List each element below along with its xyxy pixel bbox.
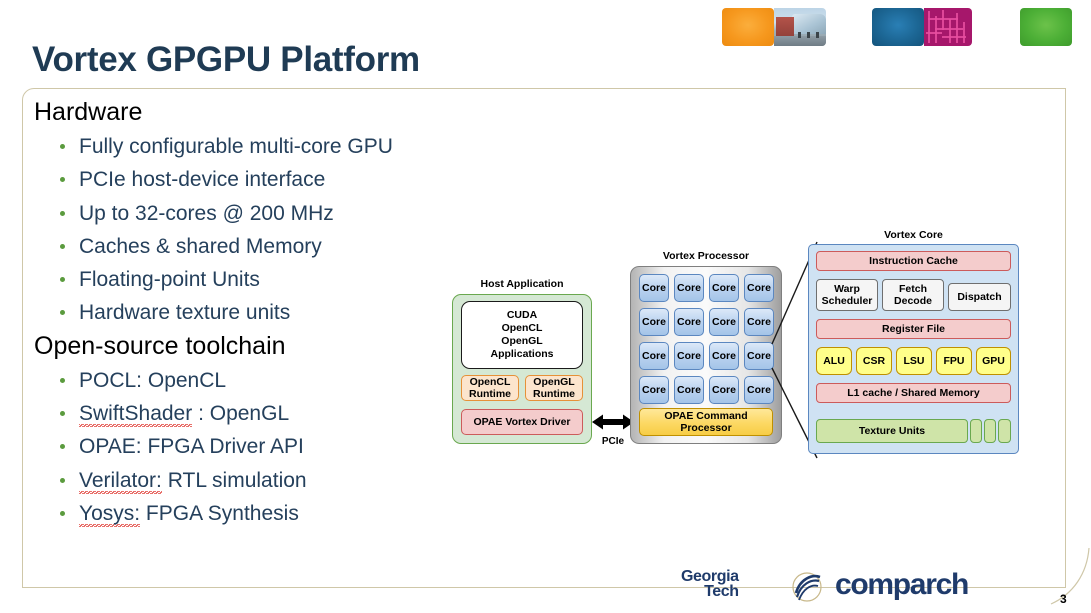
list-item: Yosys: FPGA Synthesis — [56, 497, 464, 530]
page-title: Vortex GPGPU Platform — [32, 40, 420, 80]
core-cell: Core — [639, 308, 669, 336]
list-item: POCL: OpenCL — [56, 364, 464, 397]
exec-unit-lsu: LSU — [896, 347, 932, 375]
header-strip-orange — [722, 8, 774, 46]
header-strip-circuit-photo — [924, 8, 972, 46]
core-cell: Core — [674, 274, 704, 302]
logo-tech: Tech — [681, 585, 739, 600]
core-cell: Core — [709, 308, 739, 336]
exec-unit-csr: CSR — [856, 347, 892, 375]
register-file-box: Register File — [816, 319, 1011, 339]
core-cell: Core — [709, 376, 739, 404]
vortex-core-caption: Vortex Core — [808, 229, 1019, 241]
pcie-label: PCIe — [592, 436, 634, 447]
texture-unit-segment — [970, 419, 982, 443]
core-cell: Core — [709, 342, 739, 370]
core-cell: Core — [674, 376, 704, 404]
section-heading-toolchain: Open-source toolchain — [34, 330, 464, 363]
opae-vortex-driver-box: OPAE Vortex Driver — [461, 409, 583, 435]
exec-unit-alu: ALU — [816, 347, 852, 375]
exec-unit-fpu: FPU — [936, 347, 972, 375]
list-item: PCIe host-device interface — [56, 163, 464, 196]
list-item: Hardware texture units — [56, 296, 464, 329]
list-item: Up to 32-cores @ 200 MHz — [56, 197, 464, 230]
texture-units-box: Texture Units — [816, 419, 968, 443]
section-heading-hardware: Hardware — [34, 96, 464, 129]
list-item: SwiftShader : OpenGL — [56, 397, 464, 430]
misspelled-word: Yosys: — [79, 502, 140, 527]
core-cell: Core — [674, 342, 704, 370]
app-cuda: CUDA — [507, 309, 537, 322]
fetch-decode-box: Fetch Decode — [882, 279, 944, 311]
list-item: Caches & shared Memory — [56, 230, 464, 263]
comparch-logo: comparch — [835, 568, 968, 602]
opae-command-processor-box: OPAE Command Processor — [639, 408, 773, 436]
opencl-runtime-box: OpenCL Runtime — [461, 375, 519, 401]
bullet-list-toolchain: POCL: OpenCL SwiftShader : OpenGL OPAE: … — [56, 364, 464, 530]
swoosh-icon — [790, 571, 824, 603]
exec-unit-gpu: GPU — [976, 347, 1011, 375]
list-item: Verilator: RTL simulation — [56, 464, 464, 497]
header-strip-blue — [872, 8, 924, 46]
list-item: Fully configurable multi-core GPU — [56, 130, 464, 163]
core-cell: Core — [709, 274, 739, 302]
page-number: 3 — [1060, 592, 1067, 606]
misspelled-word: SwiftShader — [79, 402, 192, 427]
header-strip-green — [1020, 8, 1072, 46]
list-item: OPAE: FPGA Driver API — [56, 430, 464, 463]
host-applications-box: CUDA OpenCL OpenGL Applications — [461, 301, 583, 369]
core-cell: Core — [639, 376, 669, 404]
l1-cache-box: L1 cache / Shared Memory — [816, 383, 1011, 403]
georgia-tech-logo: Georgia Tech — [681, 570, 739, 599]
double-arrow-icon — [592, 414, 634, 430]
opengl-runtime-box: OpenGL Runtime — [525, 375, 583, 401]
app-applications: Applications — [490, 348, 553, 361]
core-cell: Core — [639, 342, 669, 370]
instruction-cache-box: Instruction Cache — [816, 251, 1011, 271]
texture-unit-segment — [984, 419, 996, 443]
host-application-caption: Host Application — [452, 278, 592, 290]
app-opencl: OpenCL — [502, 322, 543, 335]
core-cell: Core — [639, 274, 669, 302]
vortex-processor-caption: Vortex Processor — [630, 250, 782, 262]
header-strip-campus-photo — [774, 8, 826, 46]
misspelled-word: Verilator: — [79, 469, 162, 494]
bullet-list-hardware: Fully configurable multi-core GPU PCIe h… — [56, 130, 464, 330]
list-item: Floating-point Units — [56, 263, 464, 296]
warp-scheduler-box: Warp Scheduler — [816, 279, 878, 311]
core-cell: Core — [674, 308, 704, 336]
texture-unit-segment — [998, 419, 1011, 443]
corner-swoosh-decoration — [1021, 548, 1091, 613]
app-opengl: OpenGL — [501, 335, 542, 348]
dispatch-box: Dispatch — [948, 283, 1011, 311]
bullet-content: Hardware Fully configurable multi-core G… — [34, 96, 464, 530]
